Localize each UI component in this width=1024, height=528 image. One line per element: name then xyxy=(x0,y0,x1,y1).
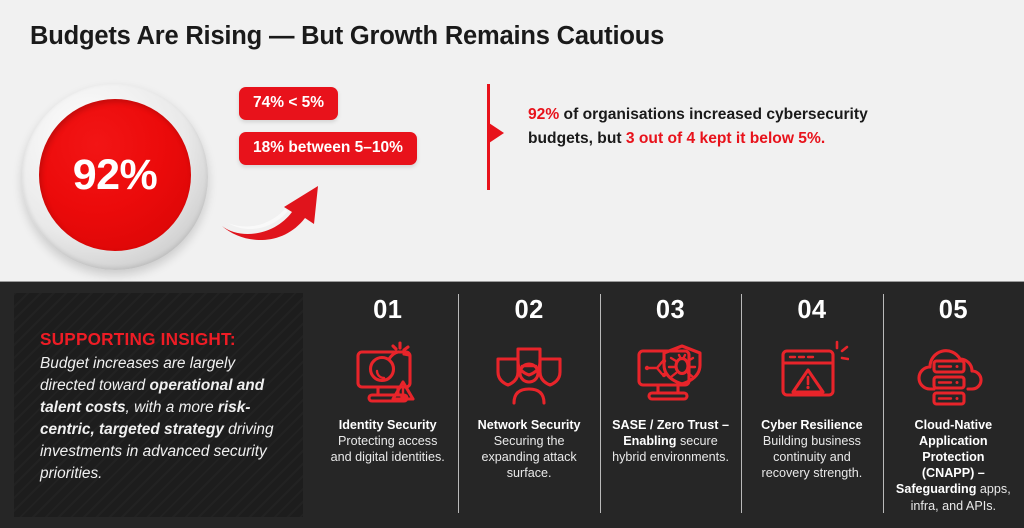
donut-fill: 92% xyxy=(39,99,191,251)
pillar-description: Securing the expanding attack surface. xyxy=(481,434,576,480)
insight-heading: SUPPORTING INSIGHT: xyxy=(40,329,281,350)
cloud-servers-icon xyxy=(916,331,990,417)
pillar-title: Network Security xyxy=(478,418,581,432)
pillar-caption: Network Security Securing the expanding … xyxy=(466,417,591,481)
callout-arrow-icon xyxy=(489,123,504,143)
pillar-column-3[interactable]: 03 xyxy=(600,282,741,528)
callout-segment: 92% xyxy=(528,106,559,123)
callout-text: 92% of organisations increased cybersecu… xyxy=(528,103,928,151)
monitor-shield-bug-icon xyxy=(634,331,708,417)
pillar-caption: SASE / Zero Trust – Enabling secure hybr… xyxy=(608,417,733,465)
pillar-title: Identity Security xyxy=(339,418,437,432)
pillar-caption: Cyber Resilience Building business conti… xyxy=(749,417,874,481)
pillar-column-4[interactable]: 04 Cyber Resilience Building business co xyxy=(741,282,882,528)
pillar-number: 05 xyxy=(939,296,968,325)
insight-segment: , with a more xyxy=(126,399,218,416)
pillar-number: 01 xyxy=(373,296,402,325)
stat-badge: 18% between 5–10% xyxy=(239,132,417,165)
pillar-title: Cloud-Native Application Protection (CNA… xyxy=(896,418,992,496)
pillar-columns: 01 Identity xyxy=(317,282,1024,528)
donut-value-label: 92% xyxy=(73,151,158,200)
person-shields-icon xyxy=(492,331,566,417)
pillar-description: Protecting access and digital identities… xyxy=(331,434,445,464)
pillar-column-2[interactable]: 02 Network Security Securing the expandi… xyxy=(458,282,599,528)
callout-segment: 3 out of 4 kept it below 5%. xyxy=(626,130,825,147)
curved-up-arrow-icon xyxy=(218,178,330,240)
pillar-description: Building business continuity and recover… xyxy=(762,434,863,480)
donut-chart: 92% xyxy=(22,84,208,270)
pillar-number: 03 xyxy=(656,296,685,325)
pillar-number: 02 xyxy=(515,296,544,325)
top-section: Budgets Are Rising — But Growth Remains … xyxy=(0,0,1024,281)
browser-warning-icon xyxy=(775,331,849,417)
pillar-number: 04 xyxy=(797,296,826,325)
monitor-bomb-alert-icon xyxy=(351,331,425,417)
insight-body: Budget increases are largely directed to… xyxy=(40,353,281,485)
page-title: Budgets Are Rising — But Growth Remains … xyxy=(30,22,664,51)
infographic-page: Budgets Are Rising — But Growth Remains … xyxy=(0,0,1024,528)
supporting-insight-box: SUPPORTING INSIGHT: Budget increases are… xyxy=(14,293,303,517)
dark-panel: SUPPORTING INSIGHT: Budget increases are… xyxy=(0,281,1024,528)
pillar-column-1[interactable]: 01 Identity xyxy=(317,282,458,528)
stat-badge: 74% < 5% xyxy=(239,87,338,120)
pillar-column-5[interactable]: 05 Cloud-Native Application Protectio xyxy=(883,282,1024,528)
pillar-caption: Cloud-Native Application Protection (CNA… xyxy=(891,417,1016,514)
pillar-caption: Identity Security Protecting access and … xyxy=(325,417,450,465)
pillar-title: Cyber Resilience xyxy=(761,418,863,432)
